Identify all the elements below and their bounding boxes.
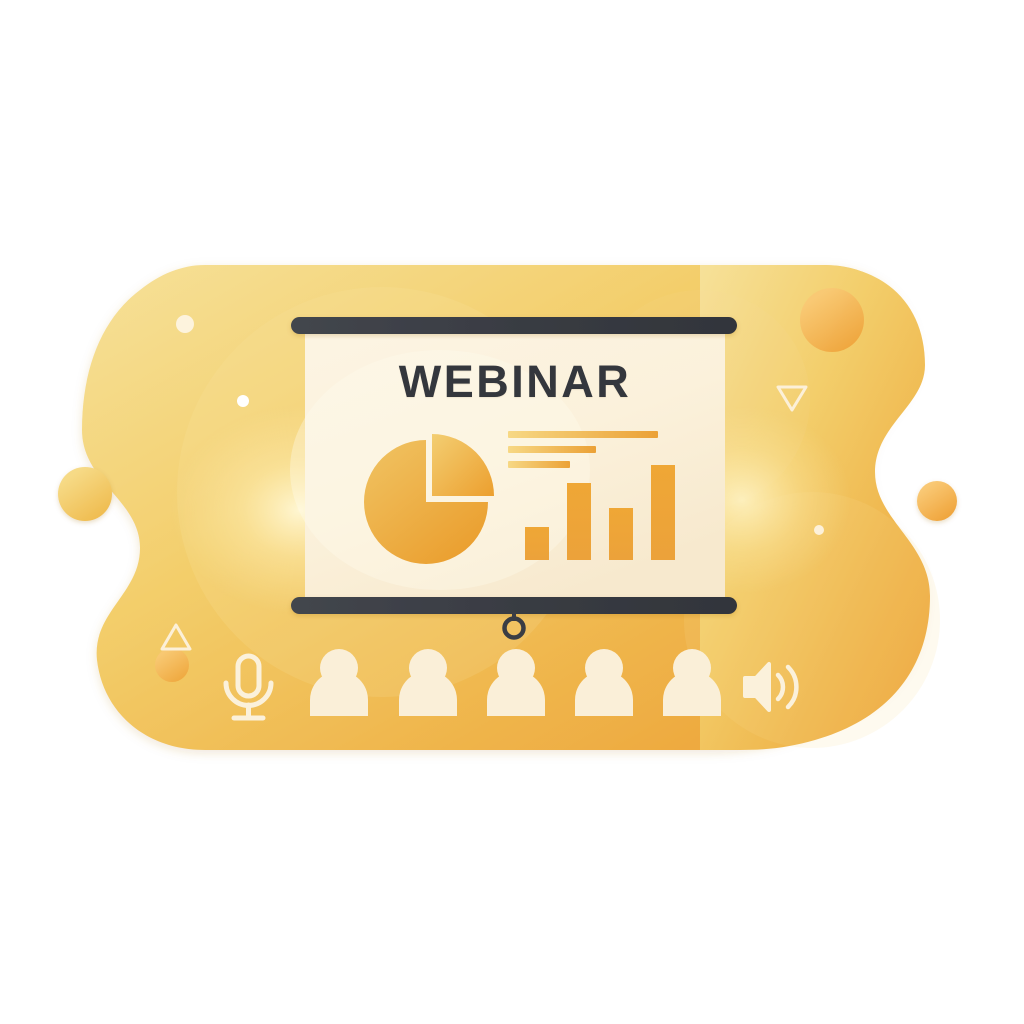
- sparkle-dot-3: [814, 525, 824, 535]
- accent-sphere-bottom-left: [155, 648, 189, 682]
- floating-dot-right: [917, 481, 957, 521]
- floating-dot-left: [58, 467, 112, 521]
- bar-4: [651, 465, 675, 560]
- bar-1: [525, 527, 549, 560]
- webinar-illustration: [0, 0, 1024, 1024]
- sparkle-dot-1: [176, 315, 194, 333]
- accent-sphere-top-right: [800, 288, 864, 352]
- slide-text-line-1: [508, 431, 658, 438]
- slide-text-line-2: [508, 446, 596, 453]
- bar-3: [609, 508, 633, 560]
- illustration-canvas: WEBINAR: [0, 0, 1024, 1024]
- sparkle-dot-2: [237, 395, 249, 407]
- screen-bottom-bar: [291, 597, 737, 614]
- slide-text-line-3: [508, 461, 570, 468]
- bar-2: [567, 483, 591, 560]
- screen-top-bar: [291, 317, 737, 334]
